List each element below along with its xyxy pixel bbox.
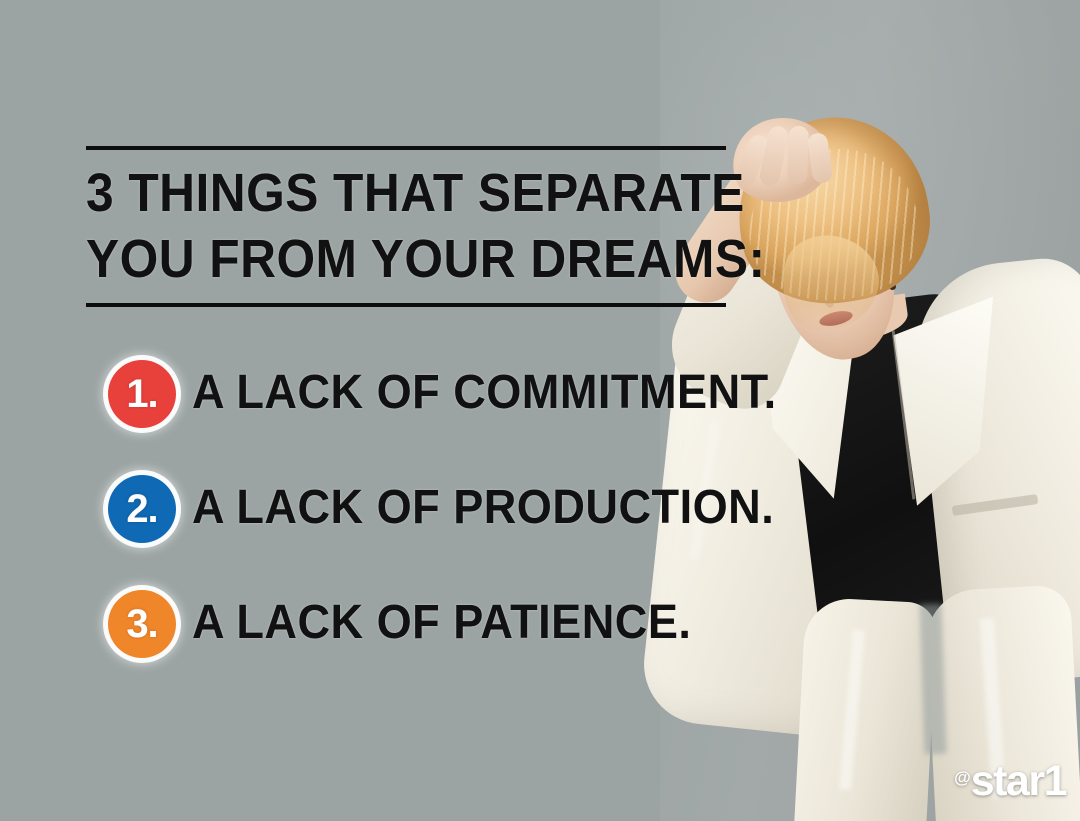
- number-badge-3: 3.: [108, 590, 176, 658]
- text-overlay: 3 THINGS THAT SEPARATE YOU FROM YOUR DRE…: [0, 0, 1080, 821]
- divider-top: [86, 146, 726, 150]
- headline-line-1: 3 THINGS THAT SEPARATE: [86, 160, 730, 226]
- list-item: 2. A LACK OF PRODUCTION.: [100, 467, 1020, 582]
- headline-line-2: YOU FROM YOUR DREAMS:: [86, 226, 730, 292]
- list-item-text-1: A LACK OF COMMITMENT.: [192, 364, 777, 422]
- list-item: 1. A LACK OF COMMITMENT.: [100, 352, 1020, 467]
- headline: 3 THINGS THAT SEPARATE YOU FROM YOUR DRE…: [86, 160, 730, 292]
- watermark-name: star1: [971, 760, 1066, 803]
- watermark: @ star1: [954, 760, 1066, 803]
- meme-image: 3 THINGS THAT SEPARATE YOU FROM YOUR DRE…: [0, 0, 1080, 821]
- list-item: 3. A LACK OF PATIENCE.: [100, 582, 1020, 697]
- number-badge-2: 2.: [108, 475, 176, 543]
- divider-bottom: [86, 303, 726, 307]
- list-item-text-2: A LACK OF PRODUCTION.: [192, 479, 774, 537]
- list-item-text-3: A LACK OF PATIENCE.: [192, 594, 691, 652]
- number-badge-1: 1.: [108, 360, 176, 428]
- reasons-list: 1. A LACK OF COMMITMENT. 2. A LACK OF PR…: [100, 352, 1020, 697]
- watermark-at-symbol: @: [954, 769, 971, 786]
